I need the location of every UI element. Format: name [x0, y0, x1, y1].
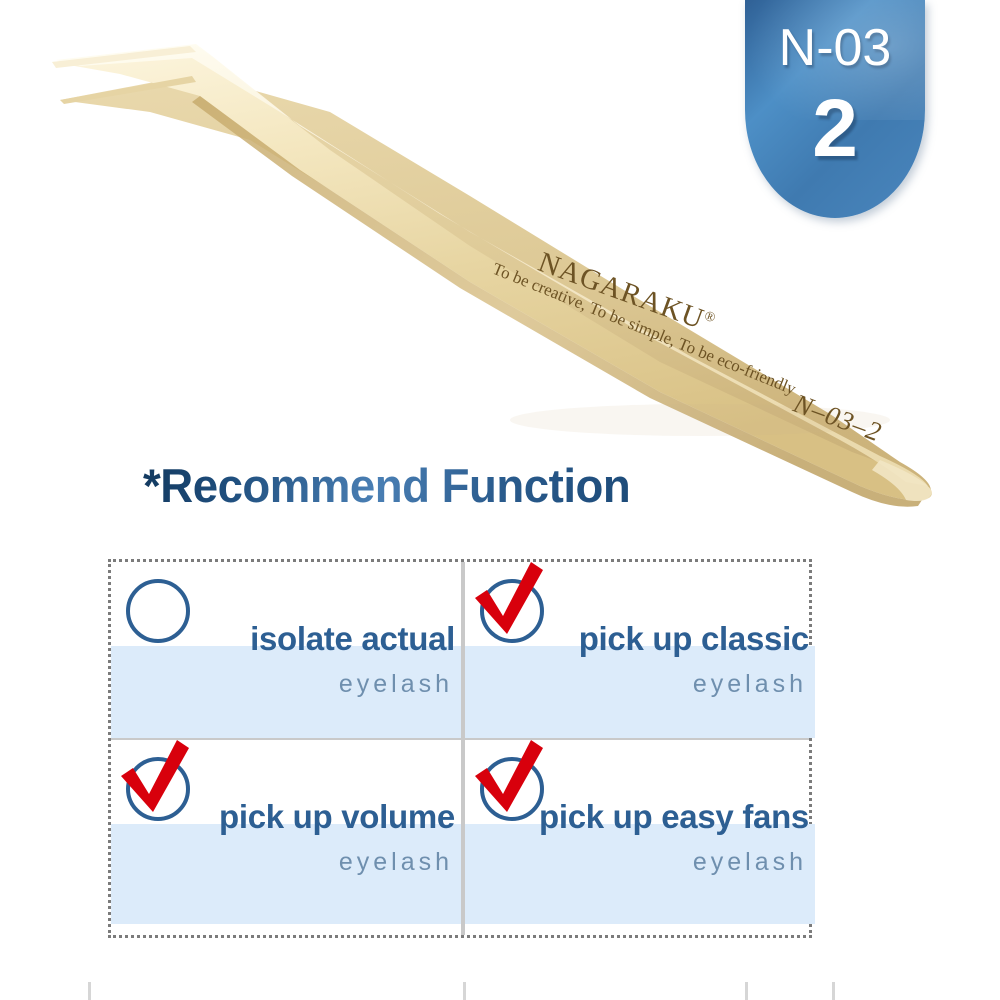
feature-cell-pick-up-easy-fans[interactable]: pick up easy fans eyelash [465, 740, 815, 916]
circle-check-icon[interactable] [477, 754, 547, 824]
feature-subtitle: eyelash [339, 670, 453, 699]
feature-cell-pick-up-volume[interactable]: pick up volume eyelash [111, 740, 461, 916]
feature-cell-pick-up-classic[interactable]: pick up classic eyelash [465, 562, 815, 738]
footer-tick [88, 982, 91, 1000]
product-image-canvas: NAGARAKU® To be creative, To be simple, … [0, 0, 1000, 1000]
footer-tick [463, 982, 466, 1000]
feature-title: isolate actual [250, 620, 455, 658]
footer-tick [832, 982, 835, 1000]
feature-title: pick up classic [579, 620, 809, 658]
badge-model-label: N-03 [745, 22, 925, 74]
circle-check-icon[interactable] [477, 576, 547, 646]
badge-number-label: 2 [745, 88, 925, 170]
footer-tick [745, 982, 748, 1000]
model-badge: N-03 2 [745, 0, 925, 218]
circle-check-icon[interactable] [123, 754, 193, 824]
recommend-function-grid: isolate actual eyelash pick up classic e… [108, 559, 812, 938]
feature-subtitle: eyelash [693, 670, 807, 699]
feature-cell-isolate-actual[interactable]: isolate actual eyelash [111, 562, 461, 738]
page-title: *Recommend Function [143, 458, 630, 513]
feature-title: pick up volume [219, 798, 455, 836]
feature-subtitle: eyelash [339, 848, 453, 877]
circle-unchecked-icon[interactable] [123, 576, 193, 646]
feature-subtitle: eyelash [693, 848, 807, 877]
feature-title: pick up easy fans [539, 798, 809, 836]
